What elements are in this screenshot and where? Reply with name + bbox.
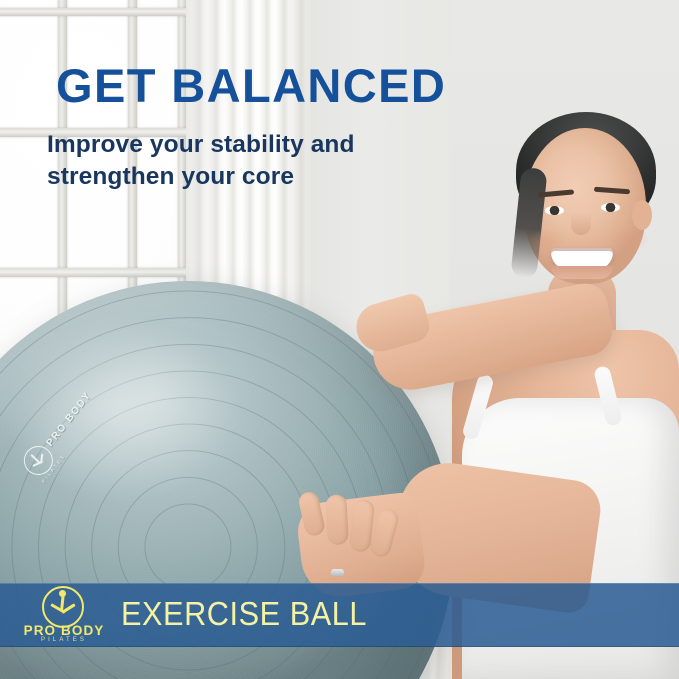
model-lower-lip (551, 266, 613, 279)
brand-logo: PRO BODY PILATES (18, 586, 110, 644)
ball-highlight (0, 318, 241, 499)
finger (325, 494, 349, 545)
model-nose (571, 213, 591, 235)
model-cheek-left (527, 228, 567, 254)
model-cheek-right (609, 226, 649, 252)
model-ring (331, 569, 344, 576)
model-eye-left (545, 206, 564, 215)
product-name: EXERCISE BALL (121, 595, 367, 633)
pilates-figure-circle-icon (42, 586, 84, 628)
page-subtitle: Improve your stability and strengthen yo… (47, 129, 355, 193)
product-image-canvas: PRO BODY PILATES GET BALANCED Improve yo… (0, 0, 679, 679)
page-title: GET BALANCED (56, 62, 446, 109)
brand-tagline: PILATES (18, 637, 110, 643)
model-eye-right (601, 203, 620, 212)
model-ear (632, 200, 652, 230)
brand-name: PRO BODY (18, 623, 110, 638)
